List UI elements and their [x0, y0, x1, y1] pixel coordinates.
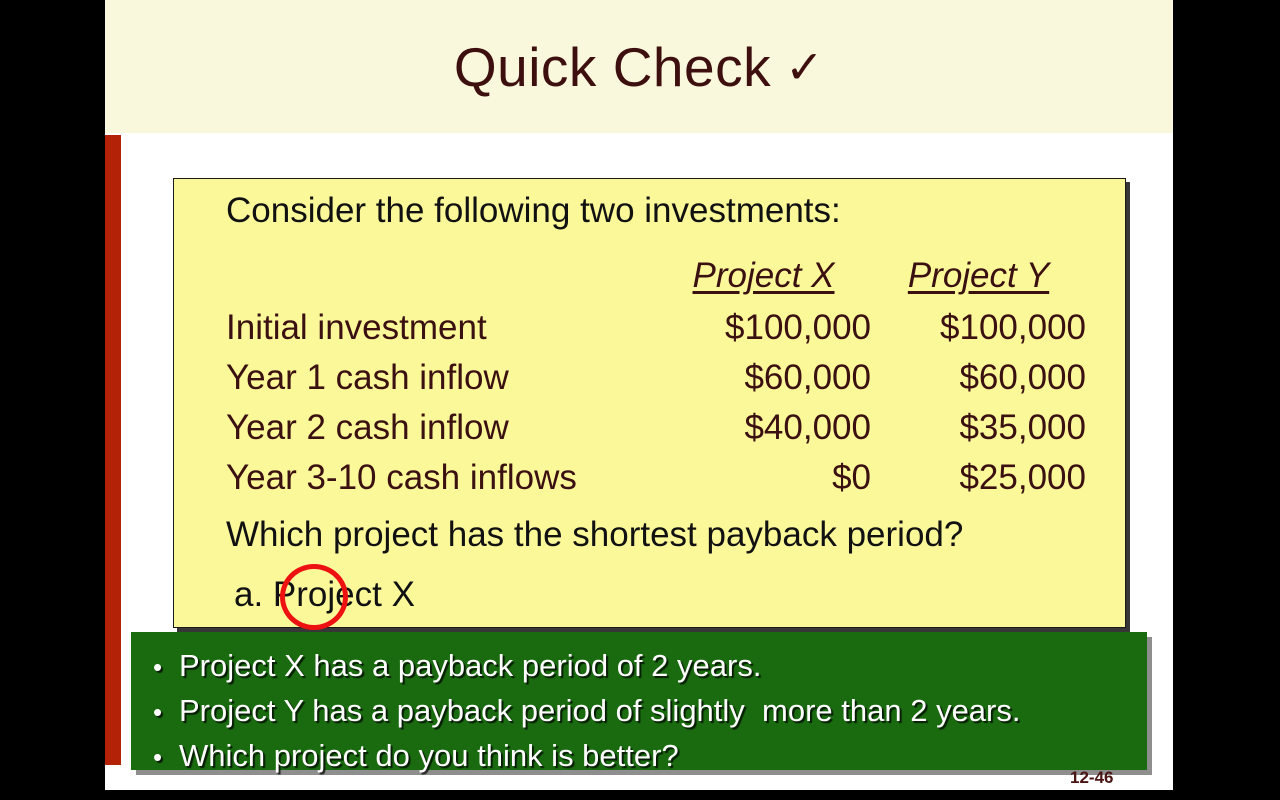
- table-header-row: Project X Project Y: [226, 251, 1086, 303]
- row-value-project-x: $40,000: [656, 403, 871, 453]
- row-value-project-y: $100,000: [871, 303, 1086, 353]
- row-label: Initial investment: [226, 303, 656, 353]
- table-row: Year 1 cash inflow $60,000 $60,000: [226, 353, 1086, 403]
- intro-text: Consider the following two investments:: [226, 191, 841, 231]
- explanation-callout: • Project X has a payback period of 2 ye…: [131, 632, 1147, 770]
- bullet-icon: •: [153, 736, 179, 779]
- investments-table: Project X Project Y Initial investment $…: [226, 251, 1086, 503]
- table-row: Initial investment $100,000 $100,000: [226, 303, 1086, 353]
- question-text: Which project has the shortest payback p…: [226, 515, 963, 555]
- bullet-icon: •: [153, 691, 179, 734]
- row-label: Year 1 cash inflow: [226, 353, 656, 403]
- row-value-project-y: $35,000: [871, 403, 1086, 453]
- list-item-label: Project Y has a payback period of slight…: [179, 689, 1020, 732]
- row-label: Year 3-10 cash inflows: [226, 453, 656, 503]
- check-mark-icon: ✓: [785, 44, 824, 90]
- row-value-project-y: $25,000: [871, 453, 1086, 503]
- column-header-project-y: Project Y: [871, 251, 1086, 303]
- row-value-project-x: $100,000: [656, 303, 871, 353]
- column-header-blank: [226, 251, 656, 303]
- row-value-project-x: $60,000: [656, 353, 871, 403]
- list-item: • Project Y has a payback period of slig…: [153, 689, 1147, 734]
- list-item: • Project X has a payback period of 2 ye…: [153, 644, 1147, 689]
- row-label: Year 2 cash inflow: [226, 403, 656, 453]
- bullet-icon: •: [153, 646, 179, 689]
- left-accent-bar: [105, 135, 121, 765]
- page-title-label: Quick Check: [454, 35, 771, 99]
- page-title: Quick Check✓: [105, 0, 1173, 133]
- column-header-project-x: Project X: [656, 251, 871, 303]
- answer-option-a[interactable]: a. Project X: [234, 575, 415, 615]
- slide-canvas: Quick Check✓ Consider the following two …: [0, 0, 1280, 800]
- row-value-project-x: $0: [656, 453, 871, 503]
- list-item-label: Which project do you think is better?: [179, 734, 679, 777]
- table-row: Year 2 cash inflow $40,000 $35,000: [226, 403, 1086, 453]
- slide-title-band: Quick Check✓: [105, 0, 1173, 133]
- list-item-label: Project X has a payback period of 2 year…: [179, 644, 761, 687]
- table-row: Year 3-10 cash inflows $0 $25,000: [226, 453, 1086, 503]
- slide-body: Quick Check✓ Consider the following two …: [105, 0, 1173, 790]
- row-value-project-y: $60,000: [871, 353, 1086, 403]
- page-number: 12-46: [1070, 768, 1113, 788]
- content-panel: Consider the following two investments: …: [173, 178, 1126, 628]
- list-item: • Which project do you think is better?: [153, 734, 1147, 779]
